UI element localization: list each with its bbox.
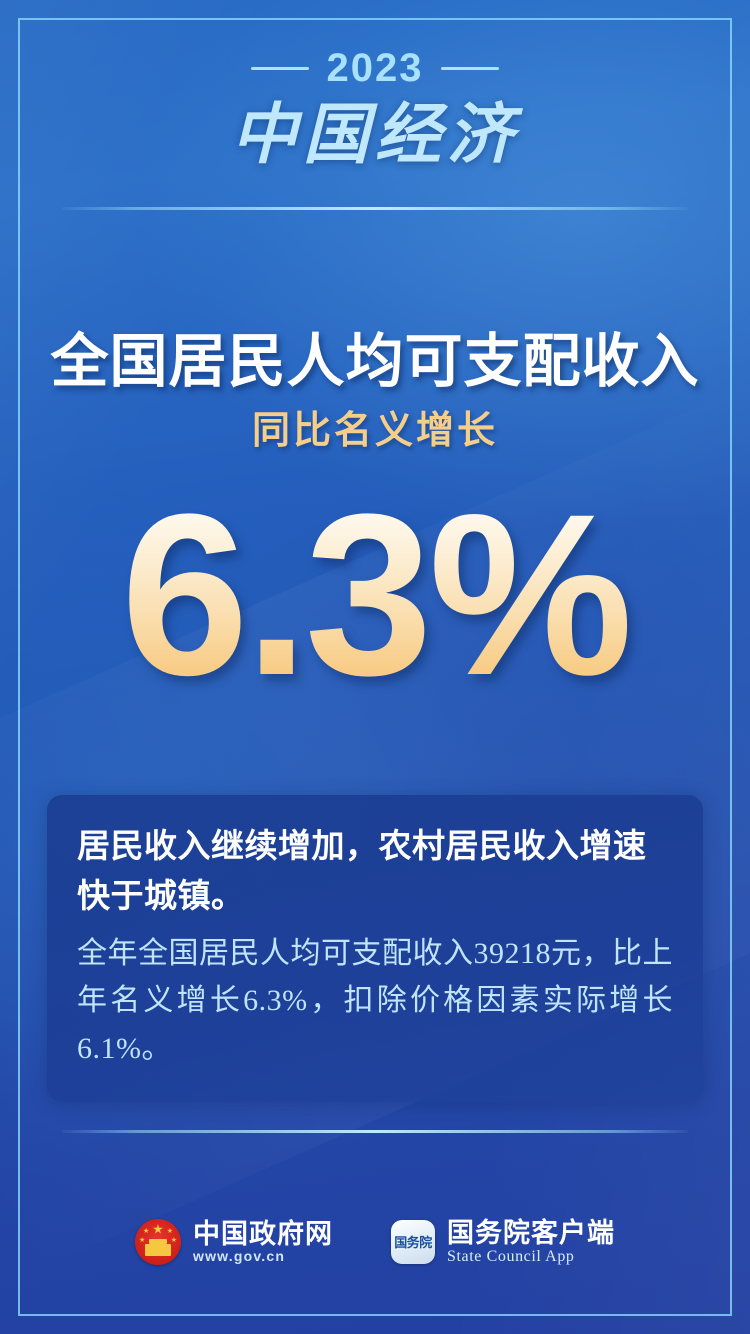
page-title: 全国居民人均可支配收入 bbox=[0, 330, 750, 395]
poster-root: 2023 中国经济 全国居民人均可支配收入 同比名义增长 6.3% 居民收入继续… bbox=[0, 0, 750, 1334]
divider-top bbox=[62, 207, 688, 210]
logo-state-council-app[interactable]: 国务院 国务院客户端 State Council App bbox=[391, 1218, 615, 1266]
info-card-body: 全年全国居民人均可支配收入39218元，比上年名义增长6.3%，扣除价格因素实际… bbox=[77, 930, 673, 1072]
headline-block: 全国居民人均可支配收入 同比名义增长 bbox=[0, 330, 750, 453]
statistic-value: 6.3% bbox=[121, 480, 629, 710]
info-card: 居民收入继续增加，农村居民收入增速快于城镇。 全年全国居民人均可支配收入3921… bbox=[47, 795, 703, 1102]
page-subtitle: 同比名义增长 bbox=[0, 411, 750, 453]
state-council-app-icon-label: 国务院 bbox=[394, 1236, 432, 1249]
year-label: 2023 bbox=[327, 48, 424, 88]
brand-title: 中国经济 bbox=[0, 100, 750, 171]
year-row: 2023 bbox=[0, 48, 750, 88]
poster-header: 2023 中国经济 bbox=[0, 48, 750, 171]
state-council-app-icon: 国务院 bbox=[391, 1220, 435, 1264]
dash-left-icon bbox=[251, 67, 309, 70]
poster-footer: ★ ★ ★ ★ ★ 中国政府网 www.gov.cn 国务院 国务院客户端 St… bbox=[0, 1218, 750, 1266]
logo-gov-cn-name: 中国政府网 bbox=[193, 1219, 333, 1249]
info-card-title: 居民收入继续增加，农村居民收入增速快于城镇。 bbox=[77, 821, 673, 920]
national-emblem-icon: ★ ★ ★ ★ ★ bbox=[135, 1219, 181, 1265]
dash-right-icon bbox=[441, 67, 499, 70]
logo-gov-cn[interactable]: ★ ★ ★ ★ ★ 中国政府网 www.gov.cn bbox=[135, 1219, 333, 1265]
logo-gov-cn-text: 中国政府网 www.gov.cn bbox=[193, 1219, 333, 1265]
divider-bottom bbox=[62, 1130, 688, 1133]
logo-gov-cn-url: www.gov.cn bbox=[193, 1249, 333, 1265]
logo-state-council-text: 国务院客户端 State Council App bbox=[447, 1218, 615, 1266]
logo-state-council-name-en: State Council App bbox=[447, 1248, 615, 1266]
logo-state-council-name: 国务院客户端 bbox=[447, 1218, 615, 1248]
statistic-block: 6.3% bbox=[0, 480, 750, 730]
